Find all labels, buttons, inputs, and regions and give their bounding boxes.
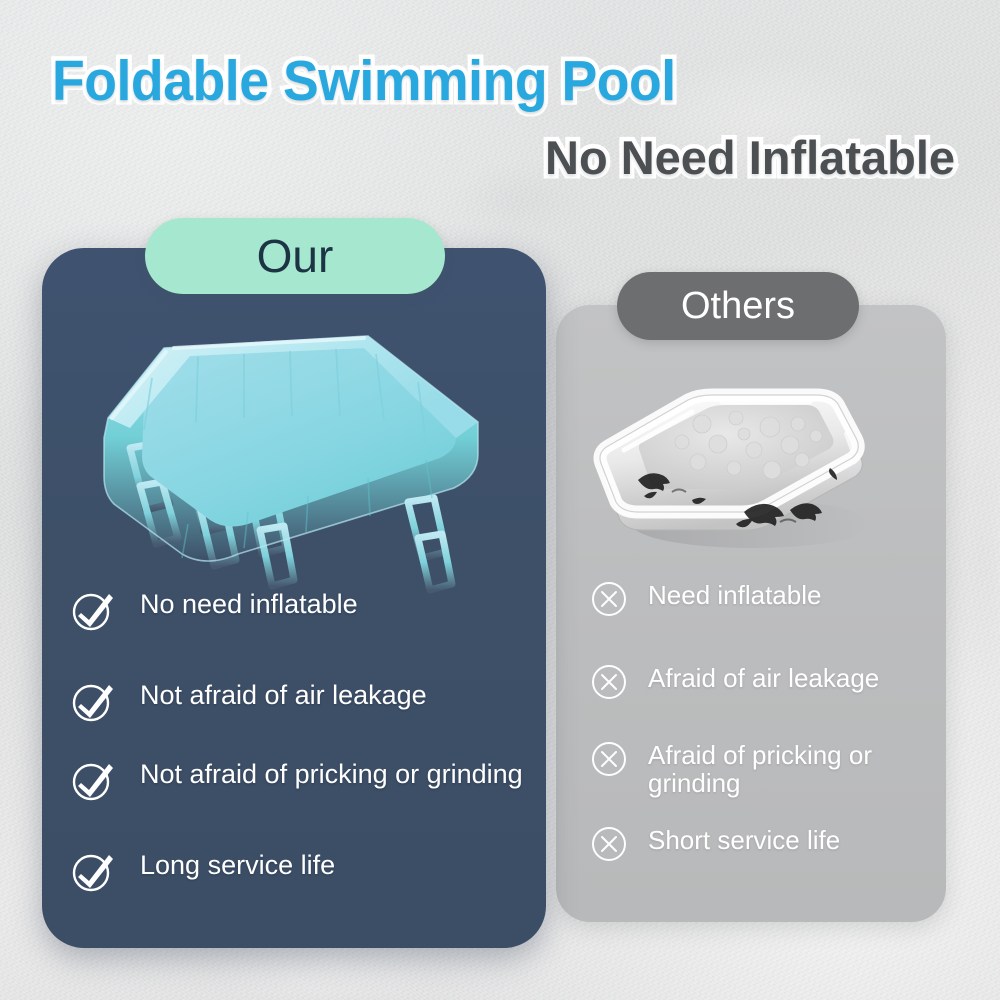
page-title: Foldable Swimming Pool <box>52 48 676 114</box>
list-item: Afraid of pricking or grinding <box>588 738 940 797</box>
list-item: Not afraid of air leakage <box>68 677 427 725</box>
check-icon <box>68 756 116 804</box>
feature-text: Afraid of air leakage <box>648 664 879 692</box>
x-icon <box>588 661 630 703</box>
feature-text: Short service life <box>648 826 840 854</box>
feature-text: Need inflatable <box>648 581 821 609</box>
x-icon <box>588 578 630 620</box>
list-item: Not afraid of pricking or grinding <box>68 756 523 804</box>
foldable-pool-image <box>78 326 508 594</box>
feature-text: Not afraid of air leakage <box>140 680 427 710</box>
our-badge: Our <box>145 218 445 294</box>
list-item: No need inflatable <box>68 586 358 634</box>
inflatable-pool-image <box>584 372 880 552</box>
check-icon <box>68 586 116 634</box>
list-item: Need inflatable <box>588 578 821 620</box>
others-badge: Others <box>617 272 859 340</box>
feature-text: Not afraid of pricking or grinding <box>140 759 523 789</box>
list-item: Long service life <box>68 847 335 895</box>
page-subtitle: No Need Inflatable <box>545 130 955 185</box>
list-item: Short service life <box>588 823 840 865</box>
list-item: Afraid of air leakage <box>588 661 879 703</box>
x-icon <box>588 823 630 865</box>
infographic-canvas: No need inflatable Not afraid of air lea… <box>0 0 1000 1000</box>
check-icon <box>68 677 116 725</box>
feature-text: Afraid of pricking or grinding <box>648 741 940 797</box>
check-icon <box>68 847 116 895</box>
x-icon <box>588 738 630 780</box>
feature-text: Long service life <box>140 850 335 880</box>
feature-text: No need inflatable <box>140 589 358 619</box>
